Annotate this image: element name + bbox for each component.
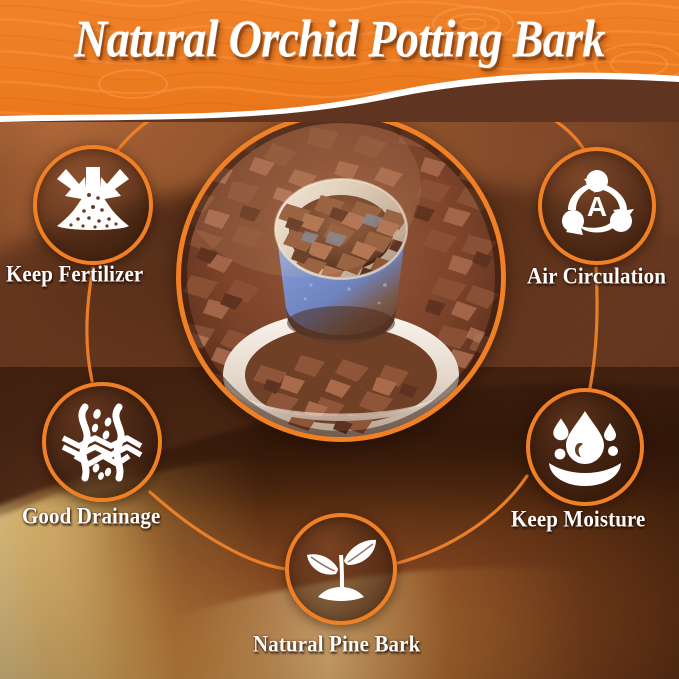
feature-circle-good-drainage[interactable] (42, 382, 162, 502)
bark-pot-illustration (181, 117, 501, 437)
air-circulation-icon: A (557, 166, 637, 246)
svg-text:A: A (587, 191, 607, 222)
product-photo (176, 112, 506, 442)
fertilizer-mound-arrows-icon (51, 165, 135, 245)
feature-circle-keep-fertilizer[interactable] (33, 145, 153, 265)
page-title: Natural Orchid Potting Bark (0, 8, 679, 69)
feature-circle-air-circulation[interactable]: A (538, 147, 656, 265)
feature-label-good-drainage: Good Drainage (22, 503, 160, 530)
water-droplet-basin-icon (544, 407, 626, 487)
feature-label-keep-moisture: Keep Moisture (511, 506, 645, 533)
feature-label-natural-pine-bark: Natural Pine Bark (253, 631, 420, 658)
feature-label-keep-fertilizer: Keep Fertilizer (6, 261, 143, 288)
header-wave-divider (0, 72, 679, 122)
seedling-sprout-icon (302, 531, 380, 607)
feature-circle-keep-moisture[interactable] (526, 388, 644, 506)
header-banner: Natural Orchid Potting Bark (0, 0, 679, 122)
product-infographic: Keep Fertilizer A Air Circulation (0, 0, 679, 679)
feature-circle-natural-pine-bark[interactable] (285, 513, 397, 625)
water-drainage-layers-icon (59, 402, 145, 482)
feature-label-air-circulation: Air Circulation (527, 263, 666, 290)
